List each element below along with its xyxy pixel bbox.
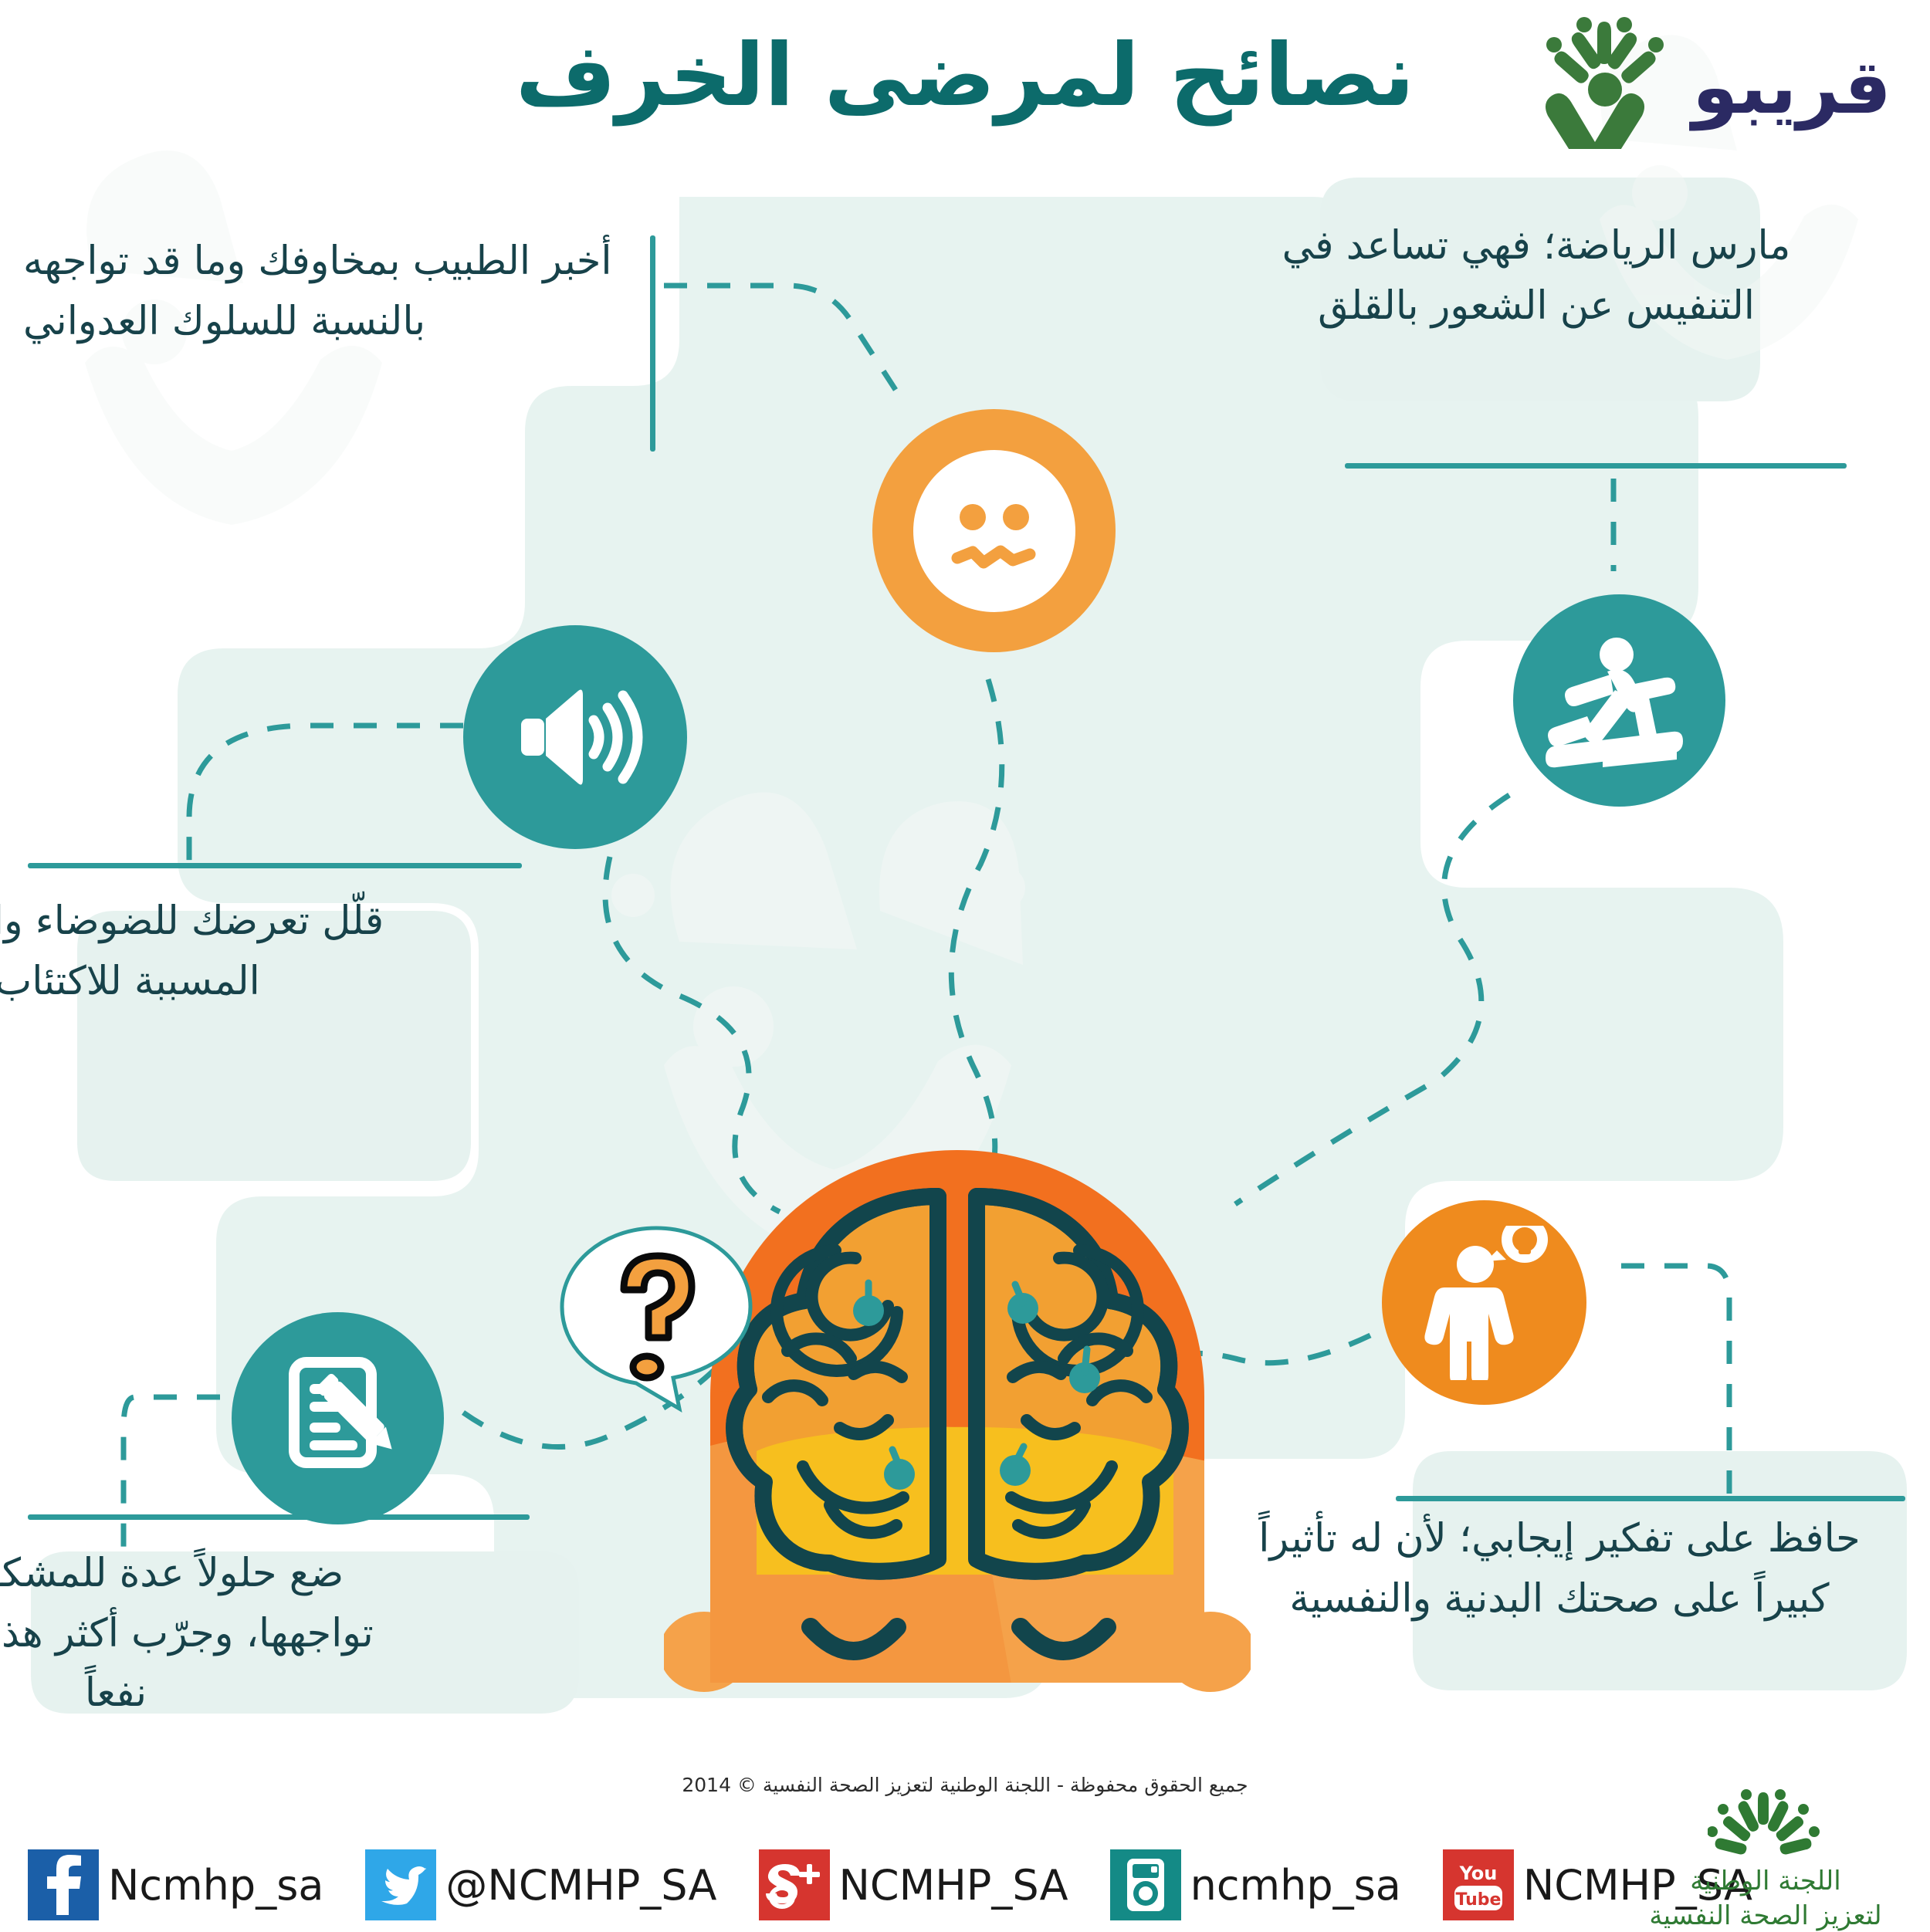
ncmhp-line1: اللجنة الوطنية bbox=[1638, 1865, 1893, 1898]
brand-name: قريبو bbox=[1692, 50, 1891, 124]
brand-logo[interactable]: قريبو bbox=[1533, 14, 1891, 149]
question-speech-bubble bbox=[556, 1223, 757, 1416]
svg-text:Tube: Tube bbox=[1455, 1890, 1501, 1910]
googleplus-icon[interactable] bbox=[759, 1849, 830, 1920]
tip-solutions-text: ضع حلولاً عدة للمشكلة التي تواجهها، وجرّ… bbox=[0, 1544, 401, 1724]
youtube-icon[interactable]: You Tube bbox=[1443, 1849, 1514, 1920]
tip-block-noise: قلّل تعرضك للضوضاء والأنشطة المسببة للاك… bbox=[0, 892, 394, 1011]
person-thought-bubble-icon[interactable] bbox=[1382, 1200, 1586, 1405]
tip-block-exercise: مارس الرياضة؛ فهي تساعد في التنفيس عن ال… bbox=[1227, 216, 1845, 336]
twitter-handle: @NCMHP_SA bbox=[445, 1861, 716, 1910]
social-item-googleplus[interactable]: NCMHP_SA bbox=[759, 1849, 1068, 1920]
ncmhp-line2: لتعزيز الصحة النفسية bbox=[1638, 1900, 1893, 1932]
people-sun-logo-icon bbox=[1533, 14, 1680, 149]
facebook-icon[interactable] bbox=[28, 1849, 99, 1920]
tip-block-doctor: أخبر الطبيب بمخاوفك وما قد تواجهه بالنسب… bbox=[23, 232, 633, 351]
tip-doctor-text: أخبر الطبيب بمخاوفك وما قد تواجهه بالنسب… bbox=[23, 232, 633, 351]
treadmill-runner-icon[interactable] bbox=[1513, 594, 1725, 807]
infographic-canvas: نصائح لمرضى الخرف قريبو bbox=[0, 0, 1930, 1930]
speaker-volume-icon[interactable] bbox=[463, 625, 687, 849]
worried-face-icon[interactable] bbox=[872, 409, 1116, 652]
instagram-icon[interactable] bbox=[1110, 1849, 1181, 1920]
tip-positive-text: حافظ على تفكير إيجابي؛ لأن له تأثيراً كب… bbox=[1243, 1509, 1876, 1629]
twitter-icon[interactable] bbox=[365, 1849, 436, 1920]
ncmhp-burst-icon bbox=[1708, 1789, 1823, 1860]
svg-text:You: You bbox=[1458, 1863, 1497, 1884]
social-bar: Ncmhp_sa @NCMHP_SA bbox=[28, 1843, 1387, 1927]
tip-block-solutions: ضع حلولاً عدة للمشكلة التي تواجهها، وجرّ… bbox=[0, 1544, 401, 1724]
facebook-handle: Ncmhp_sa bbox=[108, 1861, 323, 1910]
ncmhp-org-logo[interactable]: اللجنة الوطنية لتعزيز الصحة النفسية bbox=[1638, 1789, 1893, 1924]
tip-exercise-text: مارس الرياضة؛ فهي تساعد في التنفيس عن ال… bbox=[1227, 216, 1845, 336]
tip-block-positive: حافظ على تفكير إيجابي؛ لأن له تأثيراً كب… bbox=[1243, 1509, 1876, 1629]
social-item-instagram[interactable]: ncmhp_sa bbox=[1110, 1849, 1401, 1920]
googleplus-handle: NCMHP_SA bbox=[839, 1861, 1068, 1910]
instagram-handle: ncmhp_sa bbox=[1190, 1861, 1401, 1910]
header: نصائح لمرضى الخرف قريبو bbox=[0, 0, 1930, 193]
tip-noise-text: قلّل تعرضك للضوضاء والأنشطة المسببة للاك… bbox=[0, 892, 394, 1011]
social-item-twitter[interactable]: @NCMHP_SA bbox=[365, 1849, 716, 1920]
document-pencil-icon[interactable] bbox=[232, 1312, 444, 1524]
social-item-facebook[interactable]: Ncmhp_sa bbox=[28, 1849, 323, 1920]
